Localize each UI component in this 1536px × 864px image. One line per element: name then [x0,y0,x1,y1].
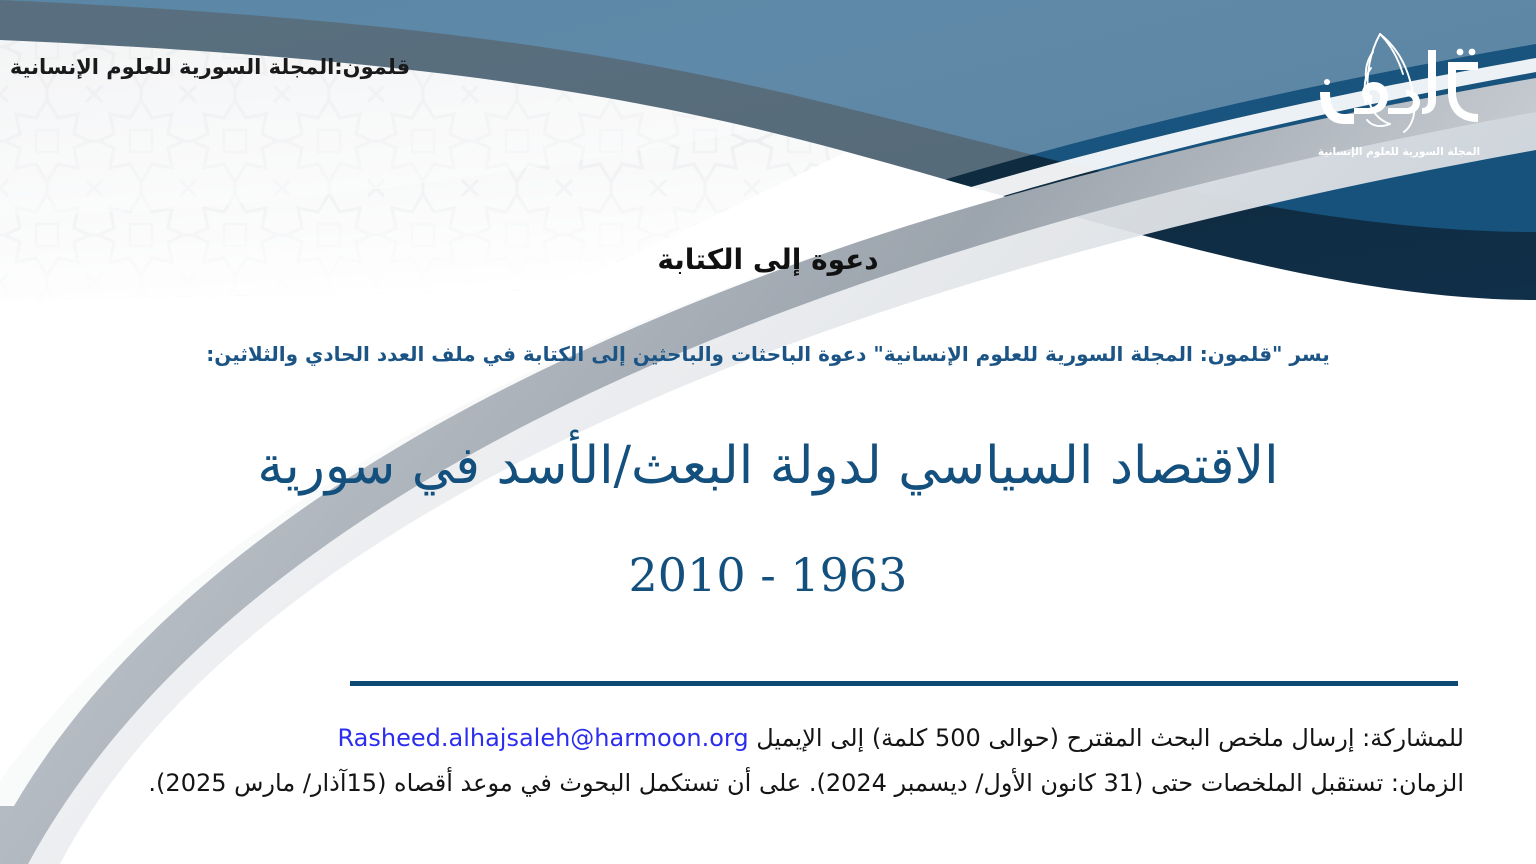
invitation-heading: دعوة إلى الكتابة [0,243,1536,276]
dossier-title: الاقتصاد السياسي لدولة البعث/الأسد في سو… [0,436,1536,496]
participation-text: للمشاركة: إرسال ملخص البحث المقترح (حوال… [756,724,1464,752]
participation-line: للمشاركة: إرسال ملخص البحث المقترح (حوال… [72,716,1464,761]
journal-logo[interactable]: المجلة السورية للعلوم الإنسانية [1304,22,1494,158]
invitation-subtitle: يسر "قلمون: المجلة السورية للعلوم الإنسا… [0,342,1536,366]
submission-details: للمشاركة: إرسال ملخص البحث المقترح (حوال… [72,716,1464,806]
dossier-years: 2010 - 1963 [0,548,1536,602]
deadline-line: الزمان: تستقبل الملخصات حتى (31 كانون ال… [72,761,1464,806]
journal-strapline: قلمون:المجلة السورية للعلوم الإنسانية [0,55,420,79]
silver-swoosh-highlight [0,58,1536,806]
section-divider [350,681,1458,686]
submission-email-link[interactable]: Rasheed.alhajsaleh@harmoon.org [338,724,749,752]
poster-canvas: قلمون:المجلة السورية للعلوم الإنسانية [0,0,1536,864]
qalamoun-wordmark-quill-icon [1310,22,1488,144]
logo-tagline: المجلة السورية للعلوم الإنسانية [1304,146,1494,158]
